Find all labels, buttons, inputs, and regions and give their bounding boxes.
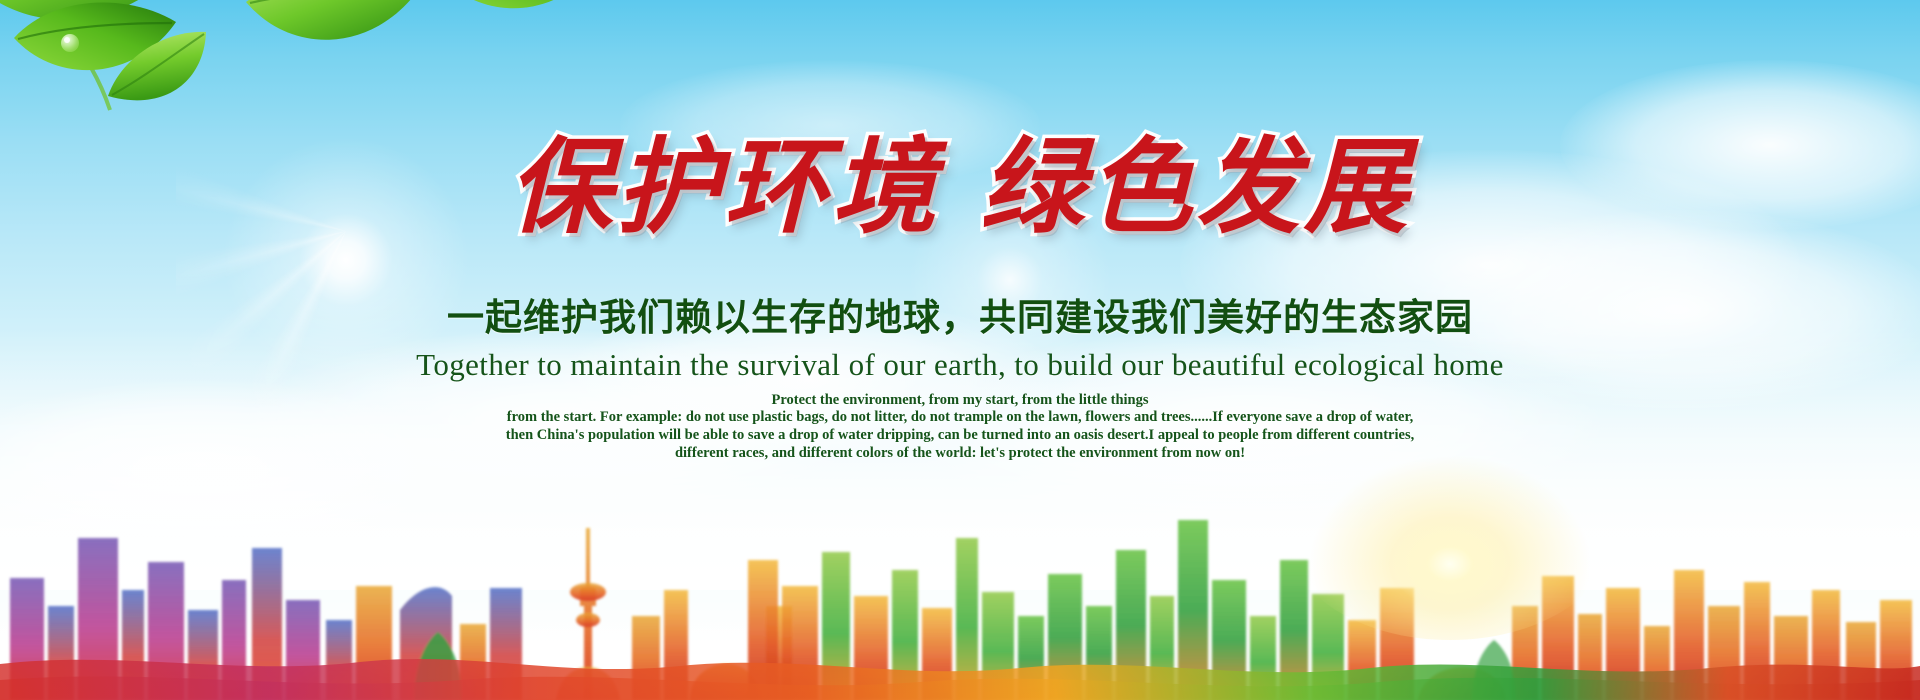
title-part-1: 保护环境 [508,131,940,246]
subtitle-english: Together to maintain the survival of our… [0,347,1920,383]
paragraph-line: from the start. For example: do not use … [0,409,1920,427]
environment-banner: 保护环境绿色发展 一起维护我们赖以生存的地球，共同建设我们美好的生态家园 Tog… [0,0,1920,700]
page-title: 保护环境绿色发展 [0,128,1920,251]
banner-text-block: 保护环境绿色发展 一起维护我们赖以生存的地球，共同建设我们美好的生态家园 Tog… [0,128,1920,462]
subtitle-chinese: 一起维护我们赖以生存的地球，共同建设我们美好的生态家园 [0,287,1920,341]
paragraph-line: then China's population will be able to … [0,427,1920,445]
body-paragraph: Protect the environment, from my start, … [0,392,1920,463]
paragraph-line: different races, and different colors of… [0,445,1920,463]
leaf [436,0,596,8]
leaf [246,0,412,40]
paragraph-line: Protect the environment, from my start, … [0,392,1920,410]
title-part-2: 绿色发展 [980,131,1412,246]
